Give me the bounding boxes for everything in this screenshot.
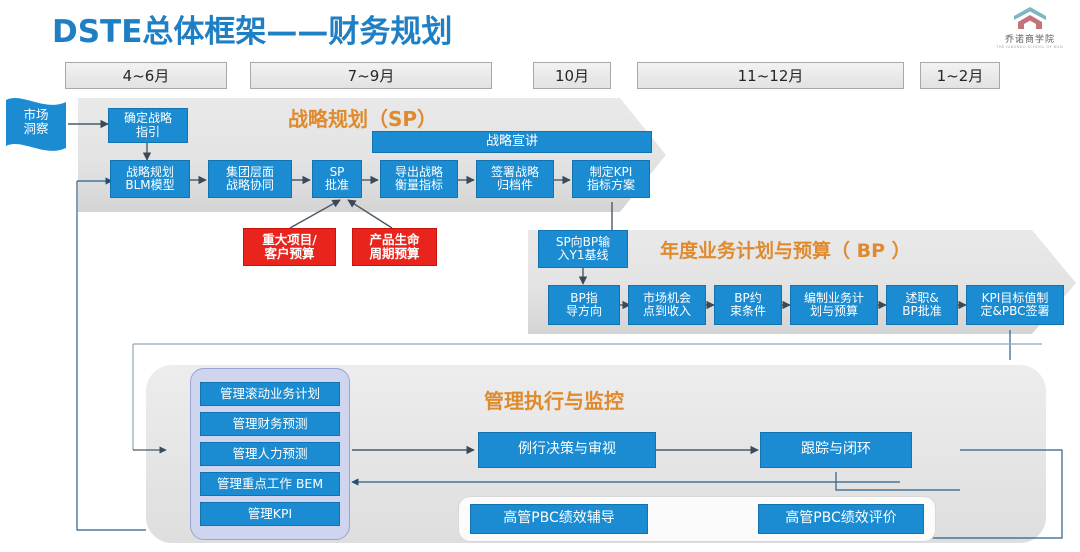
sp-step-approve[interactable]: SP 批准 xyxy=(312,160,362,198)
bp-step-mto-revenue[interactable]: 市场机会 点到收入 xyxy=(628,285,706,325)
bp-input-y1-baseline[interactable]: SP向BP输 入Y1基线 xyxy=(538,230,628,268)
manage-item-kpi[interactable]: 管理KPI xyxy=(200,502,340,526)
manage-item-hr-forecast[interactable]: 管理人力预测 xyxy=(200,442,340,466)
sp-note-major-project-budget[interactable]: 重大项目/ 客户预算 xyxy=(243,228,336,266)
bp-step-direction[interactable]: BP指 导方向 xyxy=(548,285,620,325)
diagram-shapes xyxy=(0,0,1080,552)
bp-step-compile-plan-budget[interactable]: 编制业务计 划与预算 xyxy=(790,285,878,325)
pbc-coach-box[interactable]: 高管PBC绩效辅导 xyxy=(470,504,648,534)
bp-step-constraints[interactable]: BP约 束条件 xyxy=(714,285,782,325)
manage-flow-routine-review[interactable]: 例行决策与审视 xyxy=(478,432,656,468)
manage-flow-track-close[interactable]: 跟踪与闭环 xyxy=(760,432,912,468)
manage-band-title: 管理执行与监控 xyxy=(484,385,624,414)
sp-step-group-align[interactable]: 集团层面 战略协同 xyxy=(208,160,292,198)
connector-loop-left-outer xyxy=(77,181,146,530)
sp-band-title: 战略规划（SP） xyxy=(288,103,437,132)
sp-step-blm[interactable]: 战略规划 BLM模型 xyxy=(110,160,190,198)
sp-banner-strategy-briefing[interactable]: 战略宣讲 xyxy=(372,131,652,153)
sp-step-derive-metrics[interactable]: 导出战略 衡量指标 xyxy=(380,160,458,198)
bp-band-title: 年度业务计划与预算（ BP ） xyxy=(660,236,911,263)
sp-box-define-guidance[interactable]: 确定战略 指引 xyxy=(108,108,188,143)
manage-item-rolling-plan[interactable]: 管理滚动业务计划 xyxy=(200,382,340,406)
market-insight-label: 市场 洞察 xyxy=(8,108,64,137)
manage-item-financial-forecast[interactable]: 管理财务预测 xyxy=(200,412,340,436)
bp-step-report-approve[interactable]: 述职& BP批准 xyxy=(886,285,958,325)
manage-item-key-work-bem[interactable]: 管理重点工作 BEM xyxy=(200,472,340,496)
sp-step-sign-archive[interactable]: 签署战略 归档件 xyxy=(476,160,554,198)
bp-step-kpi-target-pbc[interactable]: KPI目标值制 定&PBC签署 xyxy=(966,285,1064,325)
sp-step-kpi-plan[interactable]: 制定KPI 指标方案 xyxy=(572,160,650,198)
pbc-evaluate-box[interactable]: 高管PBC绩效评价 xyxy=(758,504,924,534)
sp-note-product-lifecycle-budget[interactable]: 产品生命 周期预算 xyxy=(352,228,437,266)
